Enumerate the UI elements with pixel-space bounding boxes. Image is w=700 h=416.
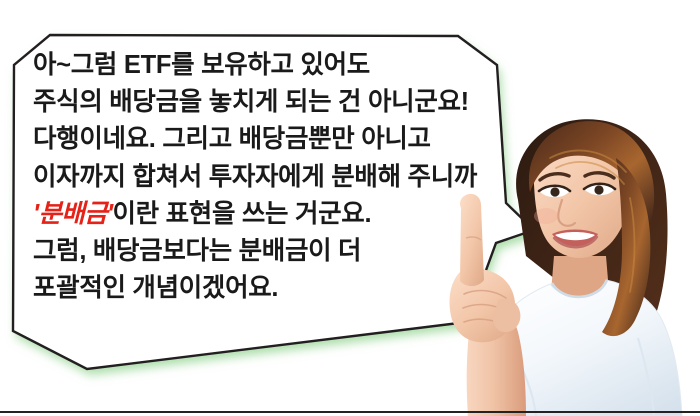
screenshot-canvas: 아~그럼 ETF를 보유하고 있어도 주식의 배당금을 놓치게 되는 건 아니군… xyxy=(0,0,700,416)
pupil-left xyxy=(550,187,559,196)
cheek-blush xyxy=(534,208,558,224)
bubble-highlight-term: '분배금' xyxy=(33,200,113,228)
bottom-divider xyxy=(0,411,700,413)
woman-pointing-up xyxy=(430,88,700,416)
bubble-line-5-rest: 이란 표현을 쓰는 거군요. xyxy=(113,200,372,228)
bubble-line-1: 아~그럼 ETF를 보유하고 있어도 xyxy=(33,47,503,84)
pupil-right xyxy=(594,185,603,194)
